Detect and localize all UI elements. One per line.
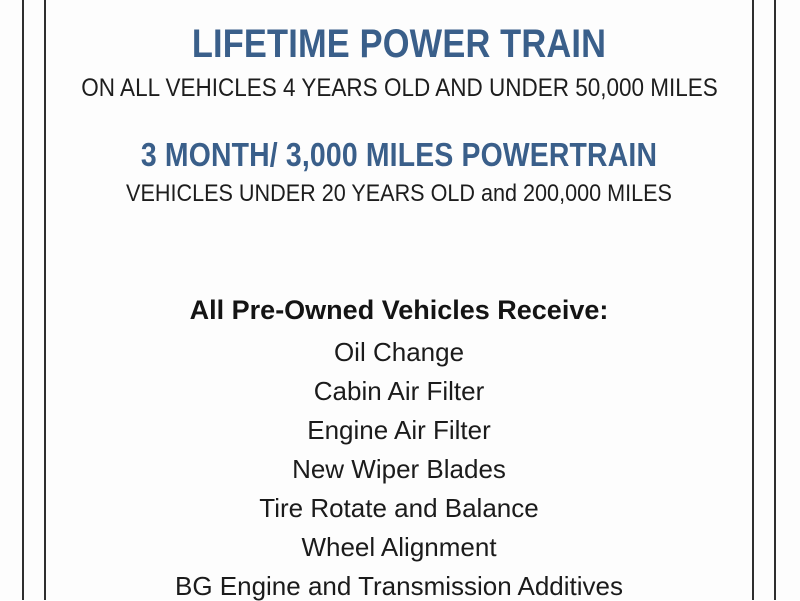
three-month-powertrain-headline: 3 MONTH/ 3,000 MILES POWERTRAIN	[95, 138, 702, 171]
service-item: Oil Change	[46, 339, 752, 365]
services-section-title: All Pre-Owned Vehicles Receive:	[46, 297, 752, 324]
service-item: New Wiper Blades	[46, 456, 752, 482]
service-item: Tire Rotate and Balance	[46, 495, 752, 521]
frame-rule-right-outer	[774, 0, 776, 600]
service-item: Cabin Air Filter	[46, 378, 752, 404]
three-month-powertrain-subhead: VEHICLES UNDER 20 YEARS OLD and 200,000 …	[81, 182, 716, 206]
flyer-content: LIFETIME POWER TRAIN ON ALL VEHICLES 4 Y…	[46, 0, 752, 600]
service-item: Engine Air Filter	[46, 417, 752, 443]
services-section: All Pre-Owned Vehicles Receive: Oil Chan…	[46, 297, 752, 599]
lifetime-powertrain-headline: LIFETIME POWER TRAIN	[95, 24, 702, 64]
flyer-page: LIFETIME POWER TRAIN ON ALL VEHICLES 4 Y…	[0, 0, 800, 600]
frame-rule-right-inner	[752, 0, 754, 600]
service-item: BG Engine and Transmission Additives	[46, 573, 752, 599]
warranty-block-lifetime: LIFETIME POWER TRAIN ON ALL VEHICLES 4 Y…	[46, 24, 752, 101]
service-item: Wheel Alignment	[46, 534, 752, 560]
warranty-block-3month: 3 MONTH/ 3,000 MILES POWERTRAIN VEHICLES…	[46, 138, 752, 206]
lifetime-powertrain-subhead: ON ALL VEHICLES 4 YEARS OLD AND UNDER 50…	[81, 76, 716, 101]
frame-rule-left-outer	[22, 0, 24, 600]
